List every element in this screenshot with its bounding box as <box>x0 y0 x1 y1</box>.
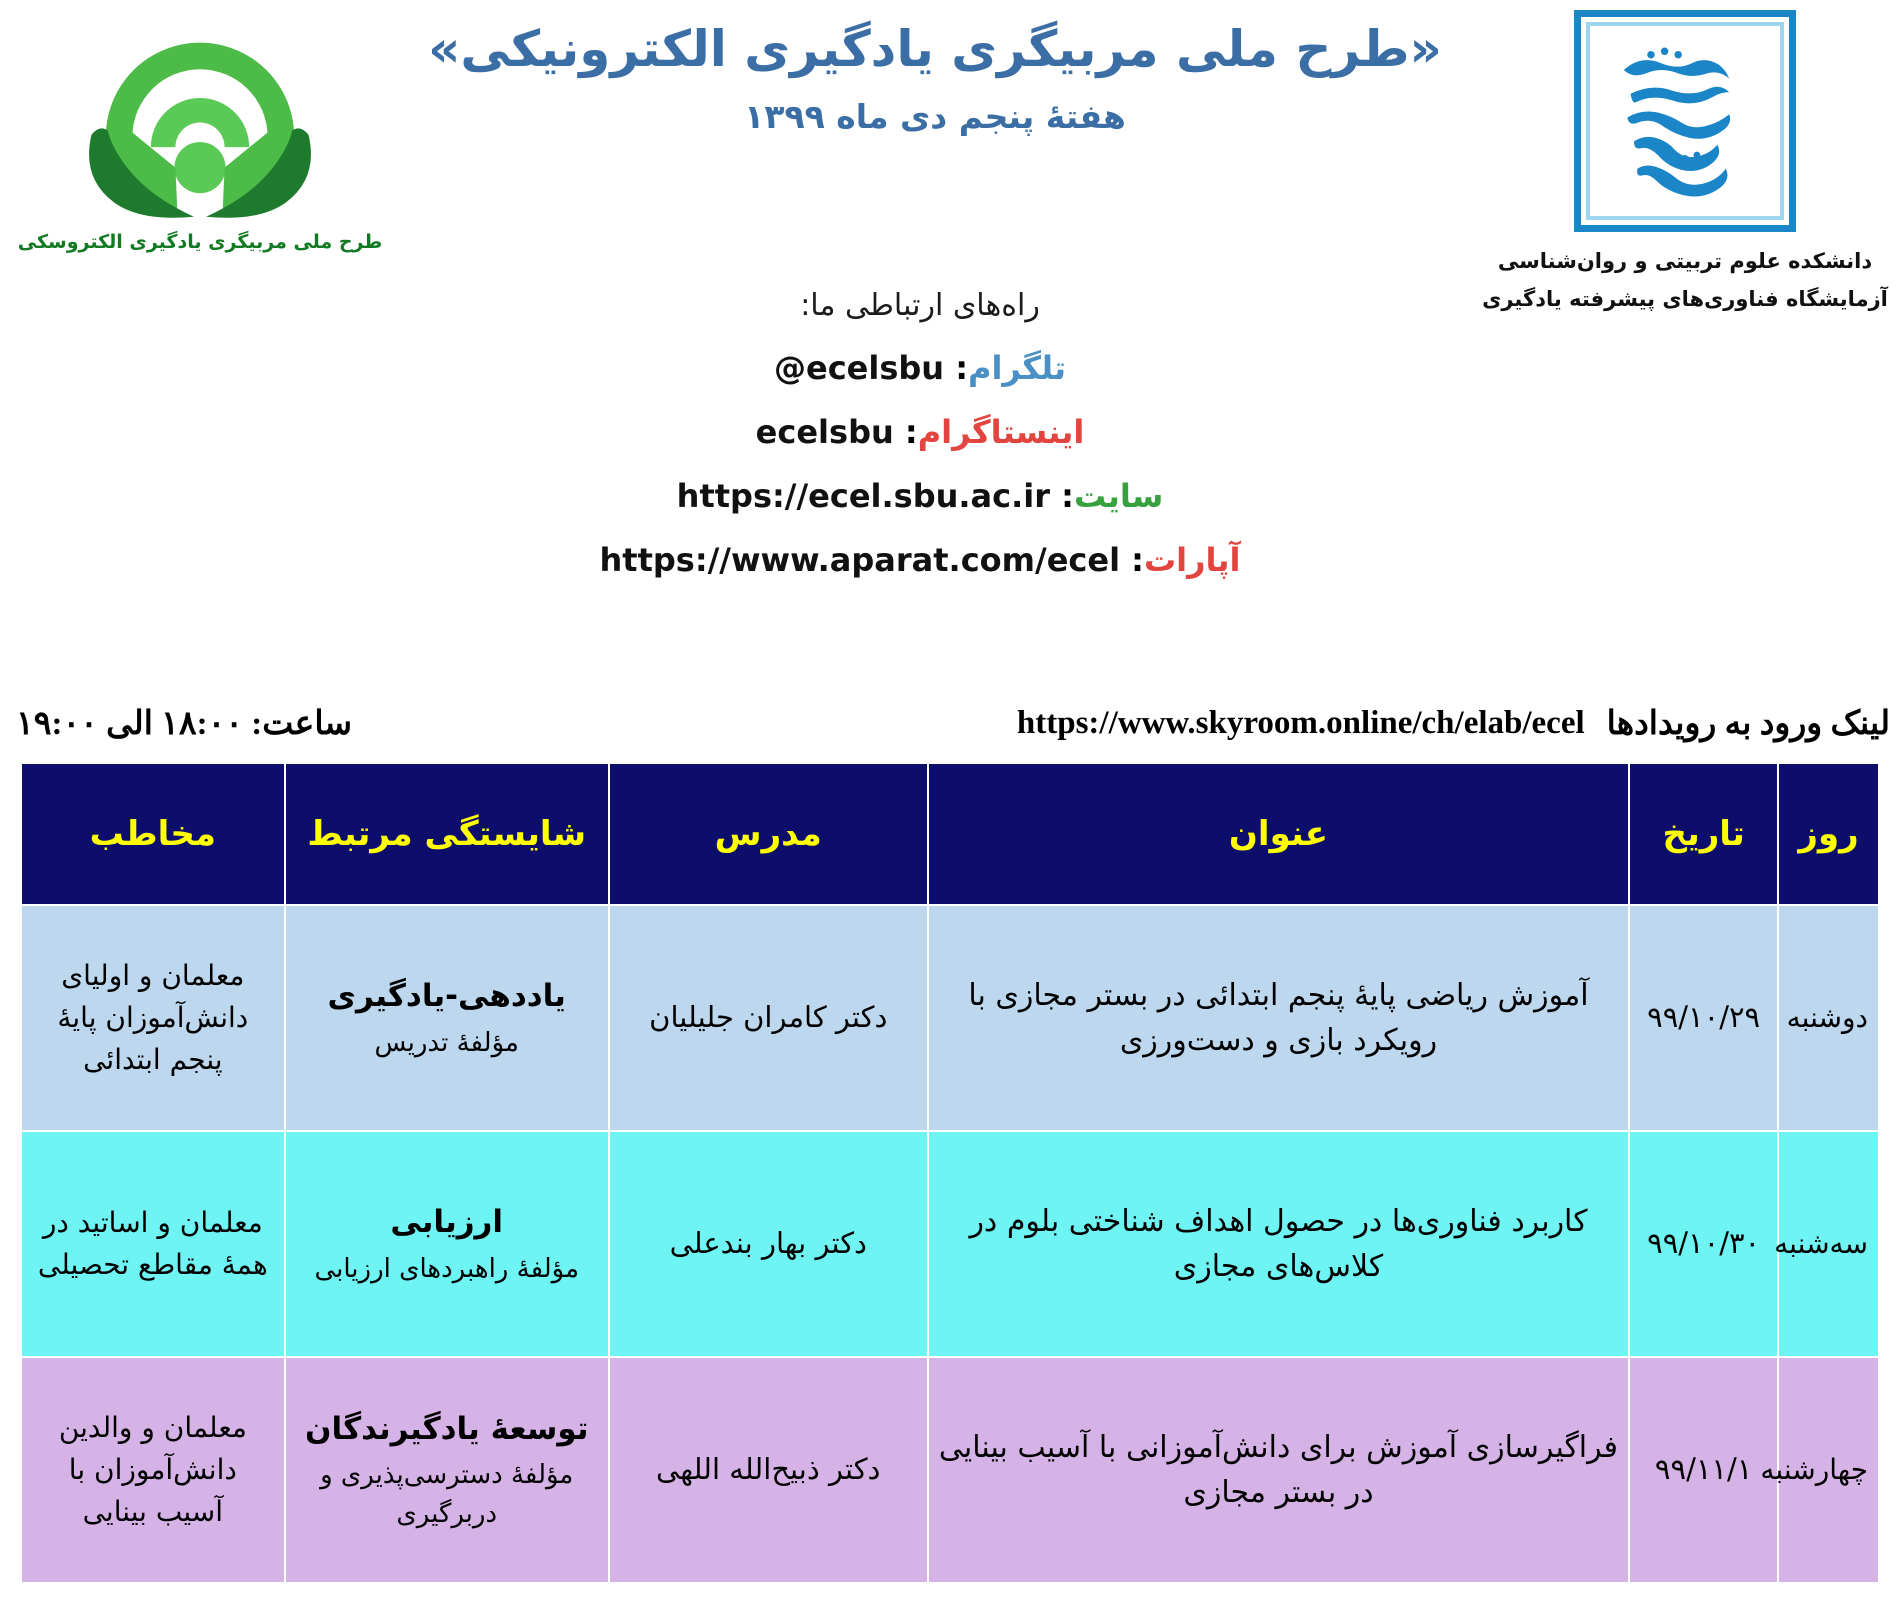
website-colon: : <box>1061 477 1074 515</box>
table-row: سه‌شنبه ۹۹/۱۰/۳۰ کاربرد فناوری‌ها در حصو… <box>21 1131 1879 1357</box>
aparat-colon: : <box>1131 541 1144 579</box>
poster-root: دانشکده علوم تربیتی و روان‌شناسی آزمایشگ… <box>0 0 1900 1620</box>
cell-competency: توسعهٔ یادگیرندگان مؤلفهٔ دسترسی‌پذیری و… <box>285 1357 609 1583</box>
contact-row-telegram: تلگرام: @ecelsbu <box>0 349 1900 387</box>
website-url[interactable]: https://ecel.sbu.ac.ir <box>677 477 1050 515</box>
instagram-handle[interactable]: ecelsbu <box>756 413 894 451</box>
cell-date: ۹۹/۱۰/۳۰ <box>1629 1131 1778 1357</box>
competency-sub: مؤلفهٔ تدریس <box>296 1024 598 1063</box>
cell-audience: معلمان و والدین دانش‌آموزان با آسیب بینا… <box>21 1357 285 1583</box>
sbu-logo-icon <box>1574 10 1796 232</box>
cell-title: کاربرد فناوری‌ها در حصول اهداف شناختی بل… <box>928 1131 1630 1357</box>
column-header-teacher: مدرس <box>609 763 928 905</box>
contact-row-aparat: آپارات: https://www.aparat.com/ecel <box>0 541 1900 579</box>
aparat-url[interactable]: https://www.aparat.com/ecel <box>599 541 1120 579</box>
cell-audience: معلمان و اساتید در همهٔ مقاطع تحصیلی <box>21 1131 285 1357</box>
title-block: «طرح ملی مربیگری یادگیری الکترونیکی» هفت… <box>400 0 1470 136</box>
ecel-logo-icon <box>65 14 335 229</box>
schedule-table-wrapper: روز تاریخ عنوان مدرس شایستگی مرتبط مخاطب… <box>20 762 1880 1584</box>
cell-title: آموزش ریاضی پایهٔ پنجم ابتدائی در بستر م… <box>928 905 1630 1131</box>
contact-row-instagram: اینستاگرام: ecelsbu <box>0 413 1900 451</box>
cell-audience: معلمان و اولیای دانش‌آموزان پایهٔ پنجم ا… <box>21 905 285 1131</box>
contact-row-website: سایت: https://ecel.sbu.ac.ir <box>0 477 1900 515</box>
cell-title: فراگیرسازی آموزش برای دانش‌آموزانی با آس… <box>928 1357 1630 1583</box>
event-time-label: ساعت: ۱۸:۰۰ الی ۱۹:۰۰ <box>16 703 352 743</box>
telegram-label: تلگرام <box>968 349 1066 387</box>
table-header-row: روز تاریخ عنوان مدرس شایستگی مرتبط مخاطب <box>21 763 1879 905</box>
ecel-logo-block: طرح ملی مربیگری یادگیری الکتروسکی <box>0 0 400 253</box>
poster-header: دانشکده علوم تربیتی و روان‌شناسی آزمایشگ… <box>0 0 1900 300</box>
cell-day: سه‌شنبه <box>1778 1131 1879 1357</box>
competency-sub: مؤلفهٔ راهبردهای ارزیابی <box>296 1250 598 1289</box>
cell-teacher: دکتر ذبیح‌الله اللهی <box>609 1357 928 1583</box>
column-header-date: تاریخ <box>1629 763 1778 905</box>
telegram-handle[interactable]: @ecelsbu <box>774 349 944 387</box>
cell-teacher: دکتر بهار بندعلی <box>609 1131 928 1357</box>
contact-heading: راه‌های ارتباطی ما: <box>0 288 1900 323</box>
cell-day: دوشنبه <box>1778 905 1879 1131</box>
column-header-title: عنوان <box>928 763 1630 905</box>
competency-main: توسعهٔ یادگیرندگان <box>296 1406 598 1453</box>
competency-main: ارزیابی <box>296 1199 598 1246</box>
aparat-label: آپارات <box>1144 541 1241 579</box>
instagram-label: اینستاگرام <box>918 413 1085 451</box>
table-row: چهارشنبه ۹۹/۱۱/۱ فراگیرسازی آموزش برای د… <box>21 1357 1879 1583</box>
contact-block: راه‌های ارتباطی ما: تلگرام: @ecelsbu این… <box>0 288 1900 605</box>
event-link-label: لینک ورود به رویدادها <box>1607 703 1890 743</box>
sbu-logo-block: دانشکده علوم تربیتی و روان‌شناسی آزمایشگ… <box>1470 0 1900 315</box>
ecel-logo-caption: طرح ملی مربیگری یادگیری الکتروسکی <box>18 231 382 253</box>
competency-main: یاددهی-یادگیری <box>296 973 598 1020</box>
page-title: «طرح ملی مربیگری یادگیری الکترونیکی» <box>400 18 1470 81</box>
cell-day: چهارشنبه <box>1778 1357 1879 1583</box>
cell-competency: یاددهی-یادگیری مؤلفهٔ تدریس <box>285 905 609 1131</box>
table-row: دوشنبه ۹۹/۱۰/۲۹ آموزش ریاضی پایهٔ پنجم ا… <box>21 905 1879 1131</box>
cell-teacher: دکتر کامران جلیلیان <box>609 905 928 1131</box>
column-header-day: روز <box>1778 763 1879 905</box>
faculty-name-line1: دانشکده علوم تربیتی و روان‌شناسی <box>1498 246 1872 278</box>
website-label: سایت <box>1074 477 1163 515</box>
event-link-row: لینک ورود به رویدادها https://www.skyroo… <box>0 693 1900 753</box>
competency-sub: مؤلفهٔ دسترسی‌پذیری و دربرگیری <box>296 1456 598 1534</box>
cell-date: ۹۹/۱۰/۲۹ <box>1629 905 1778 1131</box>
cell-date: ۹۹/۱۱/۱ <box>1629 1357 1778 1583</box>
schedule-table: روز تاریخ عنوان مدرس شایستگی مرتبط مخاطب… <box>20 762 1880 1584</box>
cell-competency: ارزیابی مؤلفهٔ راهبردهای ارزیابی <box>285 1131 609 1357</box>
column-header-audience: مخاطب <box>21 763 285 905</box>
event-link-url[interactable]: https://www.skyroom.online/ch/elab/ecel <box>1017 705 1585 742</box>
instagram-colon: : <box>905 413 918 451</box>
telegram-colon: : <box>955 349 968 387</box>
page-subtitle: هفتهٔ پنجم دی ماه ۱۳۹۹ <box>400 97 1470 136</box>
column-header-competency: شایستگی مرتبط <box>285 763 609 905</box>
